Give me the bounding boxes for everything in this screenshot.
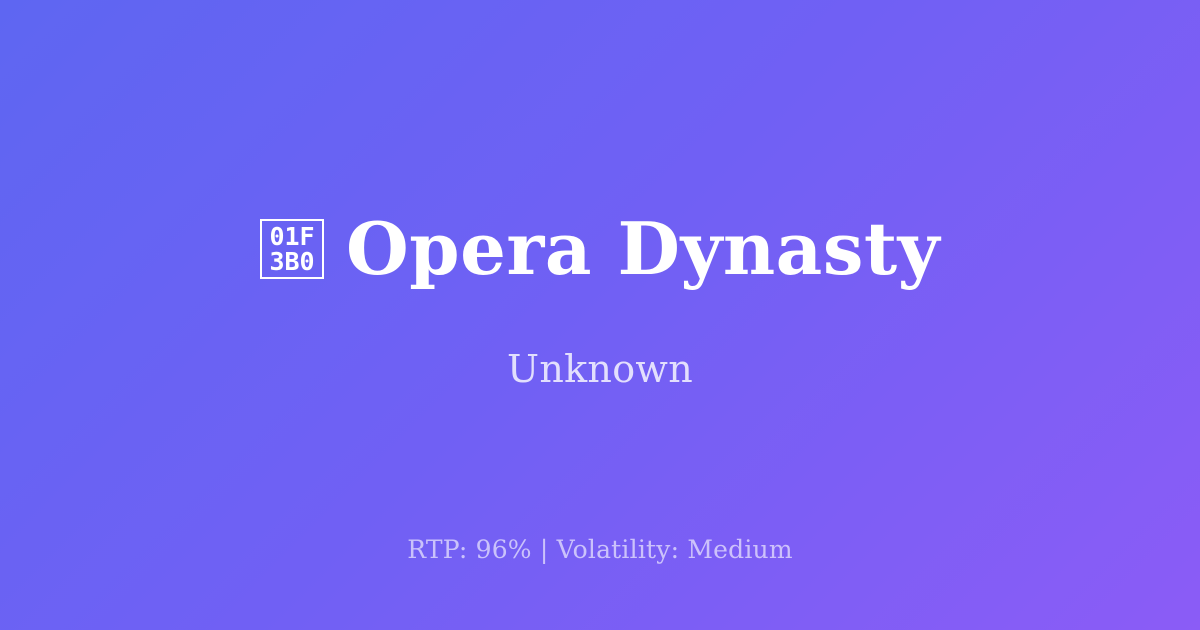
hero-block: 01F 3B0 Opera Dynasty Unknown: [0, 213, 1200, 391]
page-title: Opera Dynasty: [346, 213, 940, 285]
page-subtitle: Unknown: [507, 347, 693, 391]
tofu-codepoint-top: 01F: [269, 224, 314, 249]
game-meta-line: RTP: 96% | Volatility: Medium: [0, 535, 1200, 564]
slot-machine-icon: 01F 3B0: [260, 219, 324, 279]
og-card: 01F 3B0 Opera Dynasty Unknown RTP: 96% |…: [0, 0, 1200, 630]
tofu-codepoint-bottom: 3B0: [269, 249, 314, 274]
title-row: 01F 3B0 Opera Dynasty: [0, 213, 1200, 285]
